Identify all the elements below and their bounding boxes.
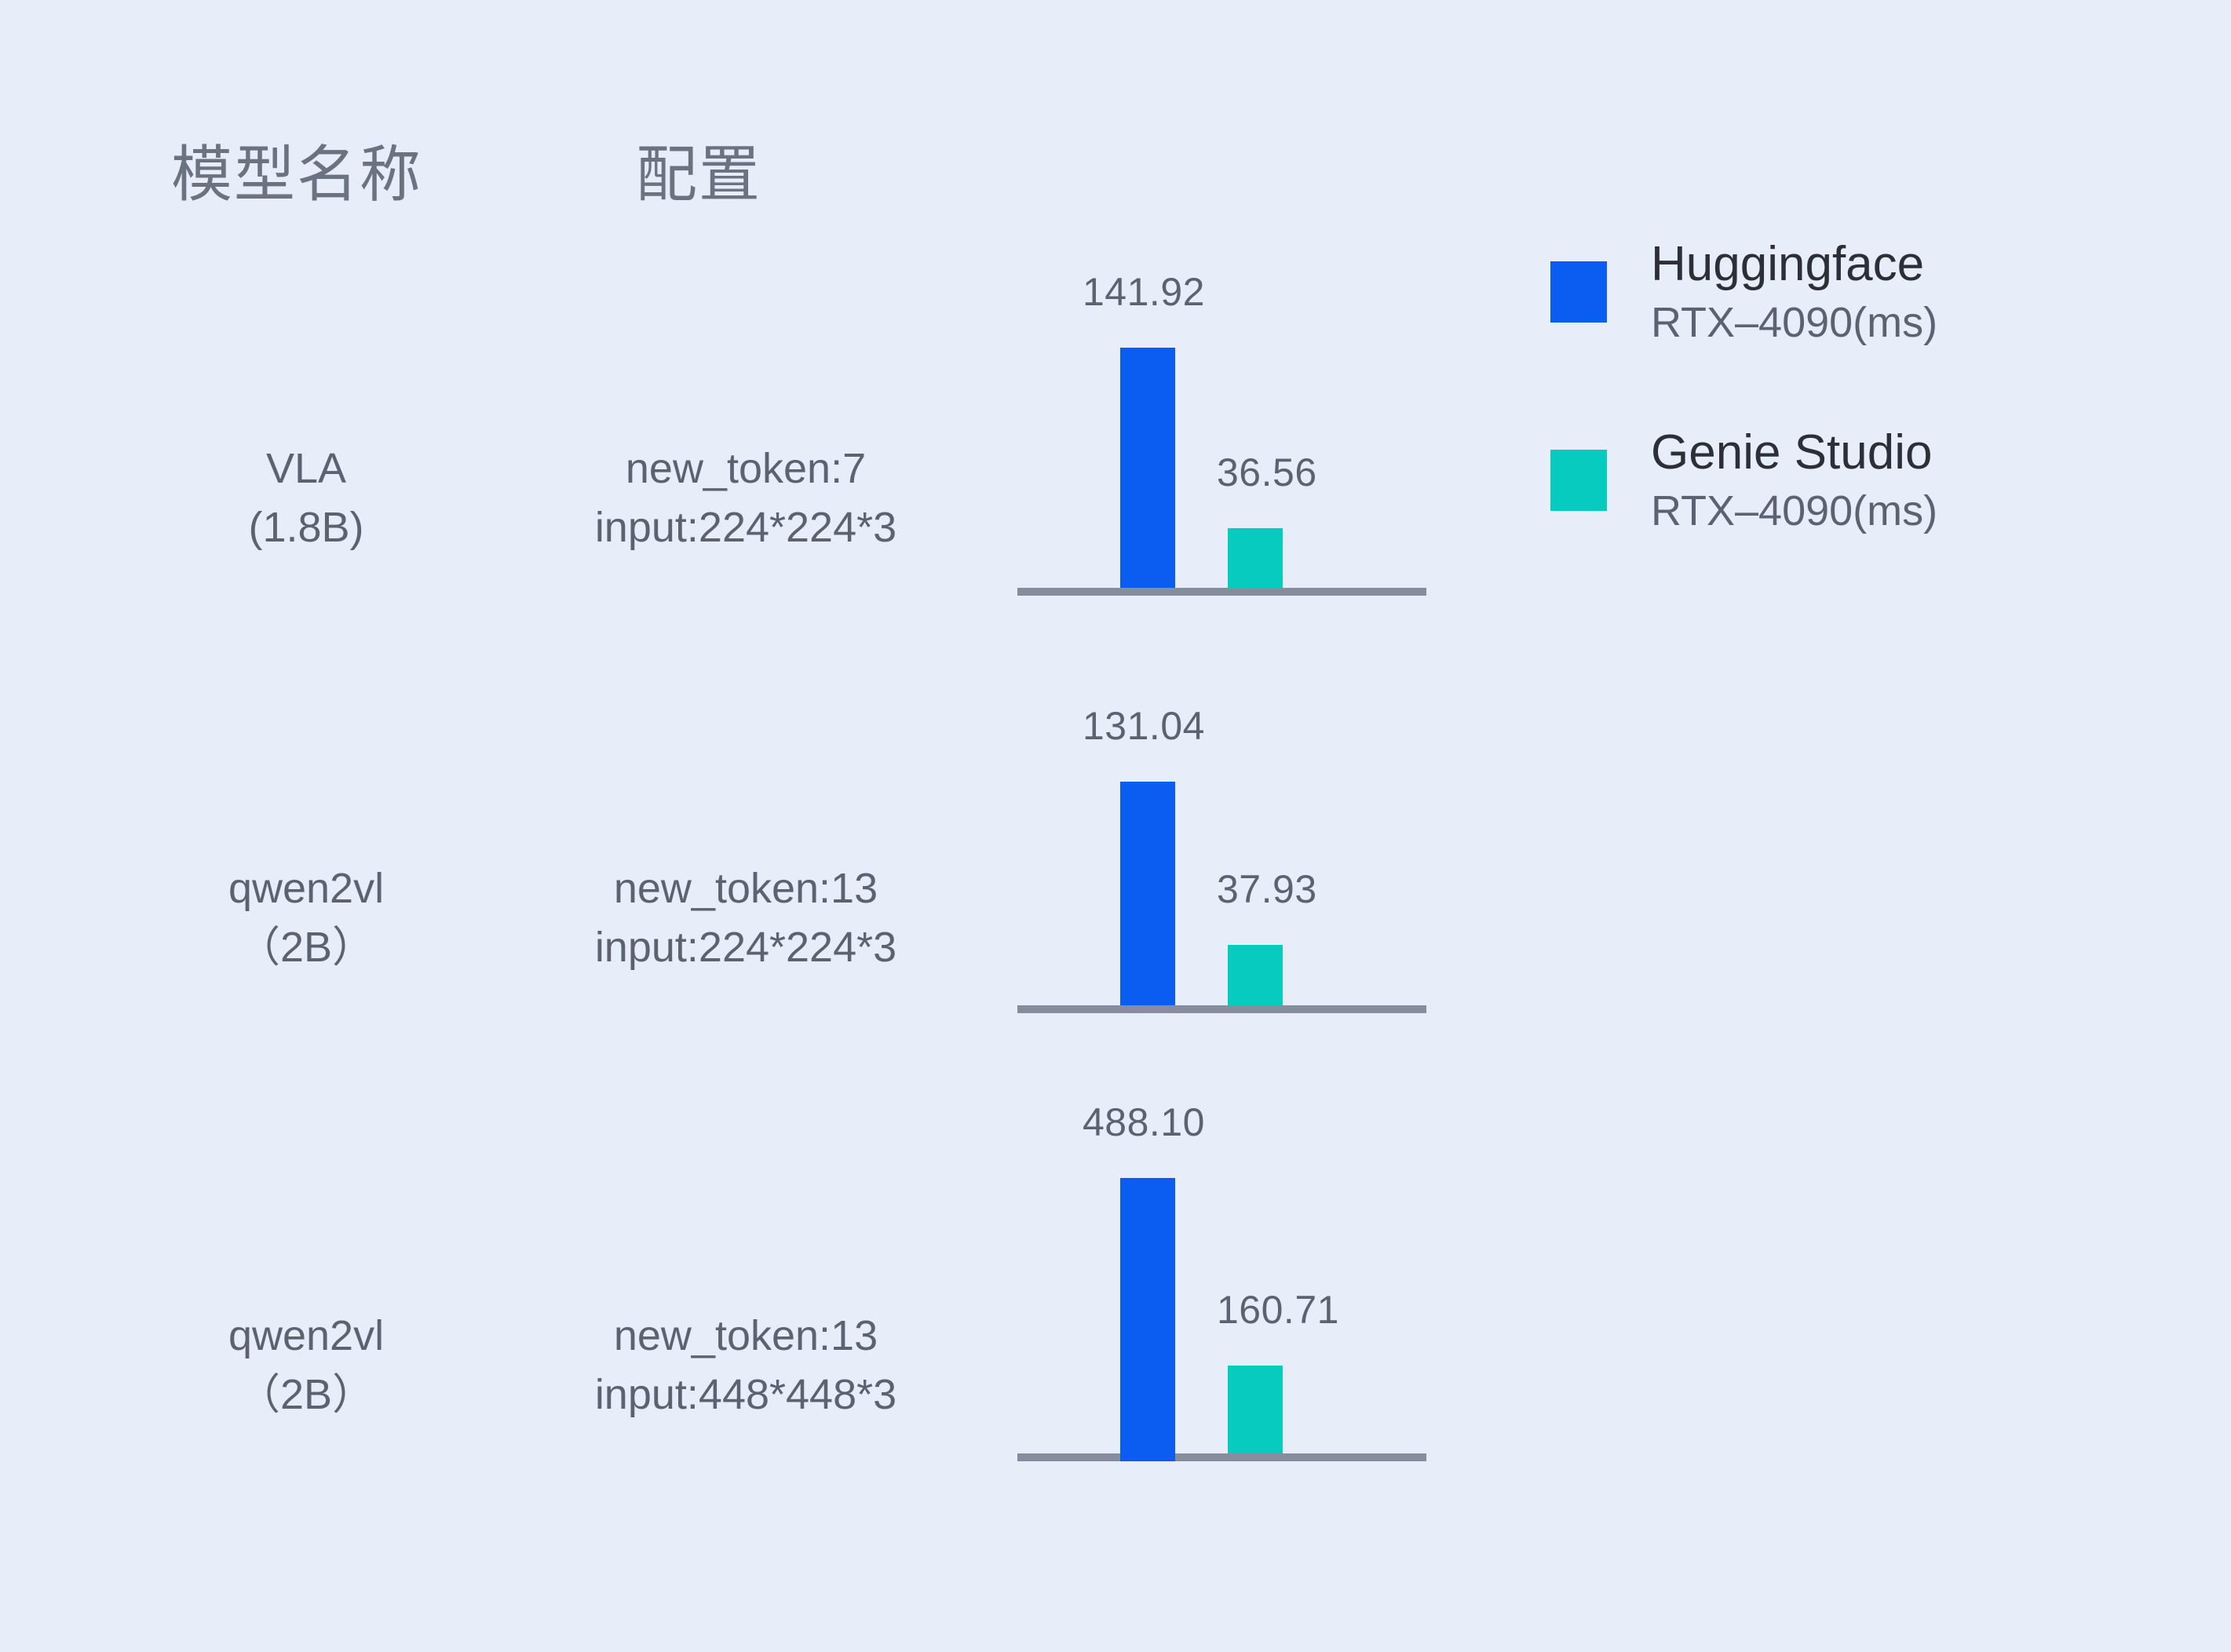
legend-title: Genie Studio [1651, 424, 1937, 481]
model-name-line-2: （2B） [141, 1366, 471, 1424]
config-line-2: input:224*224*3 [487, 918, 1005, 977]
config-line-1: new_token:7 [487, 439, 1005, 498]
legend-title: Huggingface [1651, 235, 1937, 293]
chart-canvas: 模型名称 配置 VLA (1.8B) new_token:7 input:224… [0, 0, 2231, 1651]
config-line-2: input:224*224*3 [487, 498, 1005, 557]
legend-text-huggingface: Huggingface RTX–4090(ms) [1651, 235, 1937, 348]
bar-value-label-genie-studio: 160.71 [1217, 1287, 1339, 1333]
bar-group-row-2: 131.0437.93 [1017, 567, 1433, 1052]
legend-subtitle: RTX–4090(ms) [1651, 297, 1937, 348]
cell-config: new_token:7 input:224*224*3 [487, 439, 1005, 556]
bar-group-row-3: 488.10160.71 [1017, 1015, 1433, 1501]
bar-genie-studio[interactable] [1228, 945, 1283, 1005]
chart-baseline [1017, 1005, 1426, 1013]
bar-genie-studio[interactable] [1228, 1366, 1283, 1453]
legend-subtitle: RTX–4090(ms) [1651, 486, 1937, 537]
huggingface-swatch-icon [1550, 261, 1607, 323]
bar-huggingface[interactable] [1120, 1178, 1175, 1461]
legend-text-genie-studio: Genie Studio RTX–4090(ms) [1651, 424, 1937, 537]
config-line-1: new_token:13 [487, 1307, 1005, 1366]
genie-studio-swatch-icon [1550, 450, 1607, 511]
config-line-1: new_token:13 [487, 859, 1005, 918]
model-name-line-1: qwen2vl [141, 1307, 471, 1366]
bar-value-label-huggingface: 488.10 [1083, 1100, 1205, 1145]
bar-value-label-huggingface: 141.92 [1083, 269, 1205, 315]
bar-value-label-genie-studio: 37.93 [1217, 866, 1317, 912]
bar-group-row-1: 141.9236.56 [1017, 149, 1433, 635]
column-header-model-name: 模型名称 [171, 126, 422, 213]
chart-legend: Huggingface RTX–4090(ms) Genie Studio RT… [1550, 235, 2037, 612]
cell-model-name: VLA (1.8B) [141, 439, 471, 556]
cell-config: new_token:13 input:224*224*3 [487, 859, 1005, 976]
config-line-2: input:448*448*3 [487, 1366, 1005, 1424]
chart-baseline [1017, 1453, 1426, 1461]
bar-value-label-genie-studio: 36.56 [1217, 450, 1317, 495]
model-name-line-1: VLA [141, 439, 471, 498]
bar-value-label-huggingface: 131.04 [1083, 703, 1205, 749]
model-name-line-2: （2B） [141, 918, 471, 977]
cell-model-name: qwen2vl （2B） [141, 1307, 471, 1424]
cell-config: new_token:13 input:448*448*3 [487, 1307, 1005, 1424]
model-name-line-2: (1.8B) [141, 498, 471, 557]
column-header-config: 配置 [636, 126, 761, 213]
bar-huggingface[interactable] [1120, 348, 1175, 588]
bar-huggingface[interactable] [1120, 782, 1175, 1005]
legend-item-huggingface[interactable]: Huggingface RTX–4090(ms) [1550, 235, 2037, 348]
legend-item-genie-studio[interactable]: Genie Studio RTX–4090(ms) [1550, 424, 2037, 537]
cell-model-name: qwen2vl （2B） [141, 859, 471, 976]
model-name-line-1: qwen2vl [141, 859, 471, 918]
